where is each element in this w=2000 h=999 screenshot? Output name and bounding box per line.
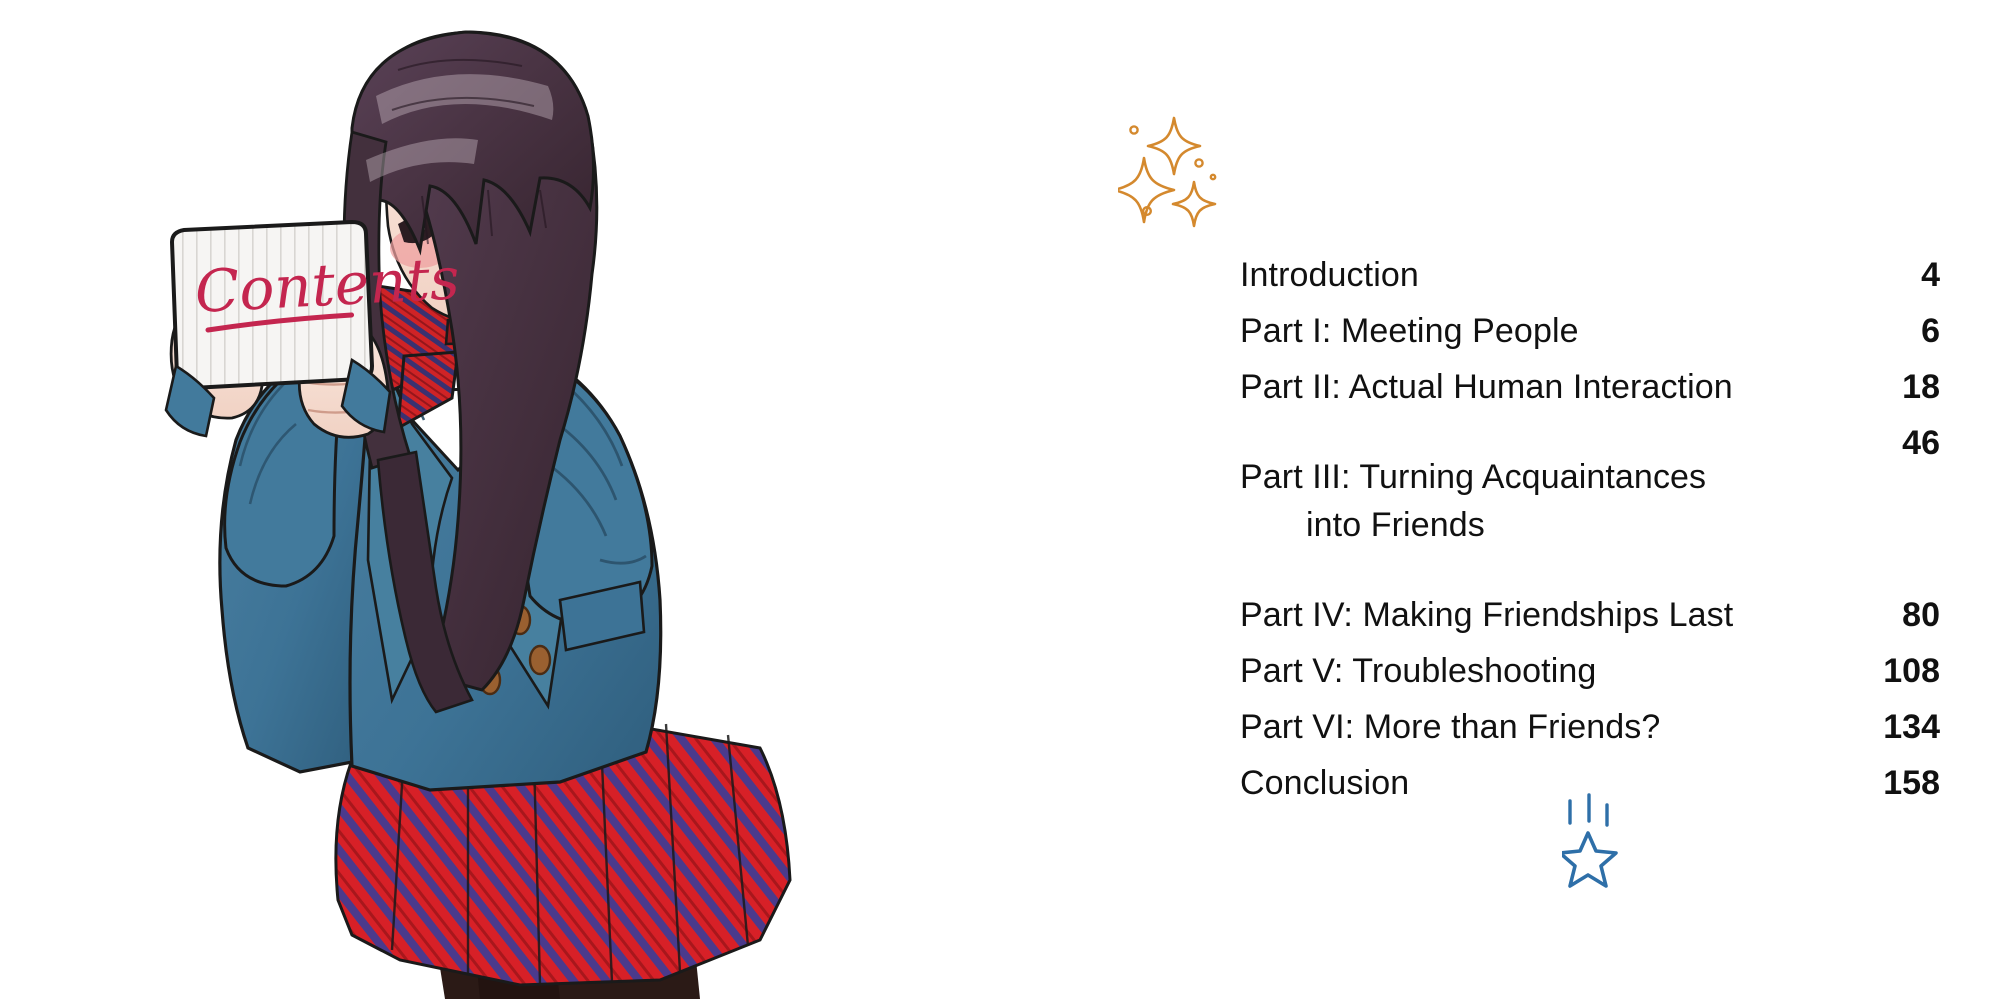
shooting-star-icon [1562,793,1682,893]
toc-entry-page-number: 6 [1876,314,1940,348]
toc-entry-introduction[interactable]: Introduction 4 [1240,258,1940,292]
toc-entry-part-6[interactable]: Part VI: More than Friends? 134 [1240,710,1940,744]
sparkles-icon [1118,108,1258,228]
toc-entry-part-1[interactable]: Part I: Meeting People 6 [1240,314,1940,348]
toc-entry-title-wrap: Part III: Turning Acquaintances into Fri… [1240,426,1730,576]
toc-entry-page-number: 80 [1876,598,1940,632]
toc-entry-part-5[interactable]: Part V: Troubleshooting 108 [1240,654,1940,688]
toc-entry-title-line2: into Friends [1240,508,1706,542]
toc-page: Contents [0,0,2000,999]
toc-entry-part-2[interactable]: Part II: Actual Human Interaction 18 [1240,370,1940,404]
toc-entry-title: Conclusion [1240,766,1433,800]
toc-entry-title: Part V: Troubleshooting [1240,654,1620,688]
toc-entry-part-4[interactable]: Part IV: Making Friendships Last 80 [1240,598,1940,632]
toc-entry-page-number: 158 [1876,766,1940,800]
table-of-contents-list: Introduction 4 Part I: Meeting People 6 … [1240,258,1940,800]
toc-entry-title: Part VI: More than Friends? [1240,710,1684,744]
toc-entry-title: Part III: Turning Acquaintances [1240,458,1706,496]
toc-entry-page-number: 134 [1876,710,1940,744]
toc-entry-page-number: 108 [1876,654,1940,688]
toc-entry-page-number: 46 [1876,426,1940,460]
toc-entry-title: Part I: Meeting People [1240,314,1603,348]
toc-entry-title: Part IV: Making Friendships Last [1240,598,1757,632]
toc-entry-title: Part II: Actual Human Interaction [1240,370,1757,404]
toc-entry-conclusion[interactable]: Conclusion 158 [1240,766,1940,800]
toc-entry-part-3[interactable]: Part III: Turning Acquaintances into Fri… [1240,426,1940,576]
toc-entry-title: Introduction [1240,258,1443,292]
contents-sign-text: Contents [193,244,461,326]
cover-illustration: Contents [0,0,860,999]
toc-entry-page-number: 18 [1876,370,1940,404]
toc-entry-page-number: 4 [1876,258,1940,292]
